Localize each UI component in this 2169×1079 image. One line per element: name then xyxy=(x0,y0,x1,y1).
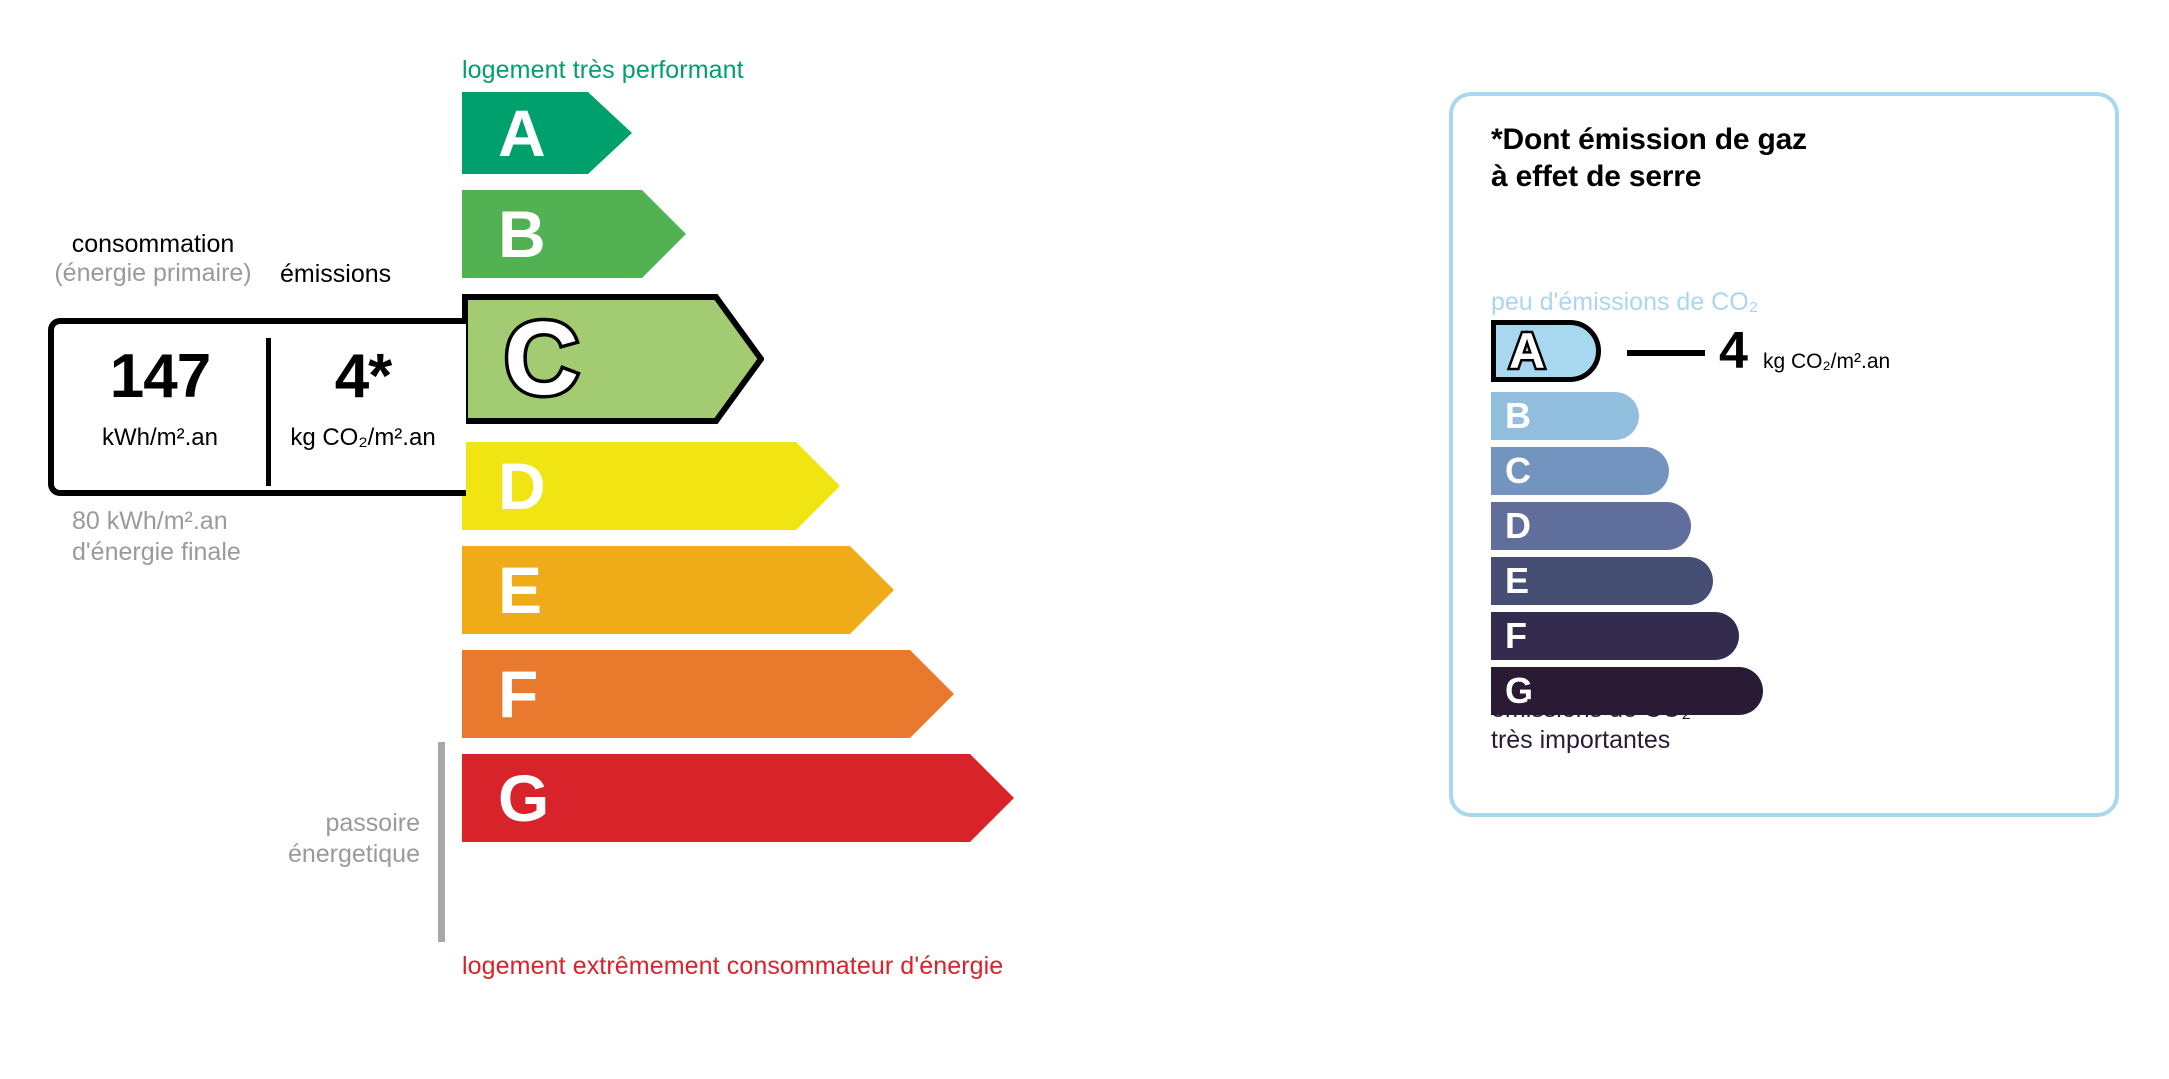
co2-letter-a: A xyxy=(1509,326,1545,376)
passoire-energetique-marker xyxy=(438,742,445,942)
co2-band-c[interactable]: C xyxy=(1491,447,2091,495)
co2-panel-title: *Dont émission de gaz à effet de serre xyxy=(1491,122,1807,195)
consumption-label-line1: consommation xyxy=(72,230,235,258)
energy-band-e[interactable]: E xyxy=(462,546,1262,634)
band-arrow-shape-a xyxy=(462,92,632,174)
energy-performance-diagram: logement très performant A B C D E F xyxy=(0,0,1430,1079)
consumption-unit: kWh/m².an xyxy=(54,424,266,452)
consumption-value: 147 xyxy=(54,346,266,408)
co2-bar-a xyxy=(1491,320,1601,382)
final-energy-line1: 80 kWh/m².an xyxy=(72,506,241,537)
consumption-value-cell: 147 kWh/m².an xyxy=(54,324,266,490)
final-energy-line2: d'énergie finale xyxy=(72,537,241,568)
band-arrow-shape-g xyxy=(462,754,1014,842)
co2-letter-e: E xyxy=(1505,563,1529,599)
band-arrow-shape-d xyxy=(462,442,840,530)
co2-value-unit: kg CO₂/m².an xyxy=(1763,350,1890,374)
energy-band-c-selected[interactable]: C xyxy=(462,294,1262,424)
co2-letter-b: B xyxy=(1505,398,1531,434)
energy-class-bands: A B C D E F G xyxy=(462,92,1262,858)
co2-band-b[interactable]: B xyxy=(1491,392,2091,440)
passoire-line1: passoire xyxy=(240,808,420,839)
co2-value: 4 xyxy=(1719,320,1748,382)
consumption-label-line2: (énergie primaire) xyxy=(38,259,268,288)
passoire-energetique-label: passoire énergetique xyxy=(240,808,420,871)
co2-bottom-line1: émissions de CO₂ xyxy=(1491,694,1691,725)
co2-band-a-selected[interactable]: A 4 kg CO₂/m².an xyxy=(1491,320,2091,382)
band-arrow-shape-c xyxy=(462,294,764,424)
co2-top-caption: peu d'émissions de CO₂ xyxy=(1491,288,1758,317)
co2-bar-f xyxy=(1491,612,1739,660)
co2-band-f[interactable]: F xyxy=(1491,612,2091,660)
energy-band-f[interactable]: F xyxy=(462,650,1262,738)
co2-bottom-caption: émissions de CO₂ très importantes xyxy=(1491,694,1691,757)
emissions-value: 4* xyxy=(267,346,459,408)
energy-band-b[interactable]: B xyxy=(462,190,1262,278)
co2-band-d[interactable]: D xyxy=(1491,502,2091,550)
scale-bottom-caption: logement extrêmement consommateur d'éner… xyxy=(462,952,1003,981)
ges-co2-panel: *Dont émission de gaz à effet de serre p… xyxy=(1449,92,2119,817)
co2-title-line1: *Dont émission de gaz xyxy=(1491,122,1807,159)
emissions-value-cell: 4* kg CO₂/m².an xyxy=(267,324,459,490)
consumption-label: consommation (énergie primaire) xyxy=(38,230,268,288)
final-energy-note: 80 kWh/m².an d'énergie finale xyxy=(72,506,241,569)
co2-bottom-line2: très importantes xyxy=(1491,725,1691,756)
co2-leader-line xyxy=(1627,350,1705,356)
energy-band-a[interactable]: A xyxy=(462,92,1262,174)
band-arrow-shape-e xyxy=(462,546,894,634)
co2-title-line2: à effet de serre xyxy=(1491,159,1807,196)
emissions-unit: kg CO₂/m².an xyxy=(267,424,459,452)
band-arrow-shape-b xyxy=(462,190,686,278)
co2-letter-c: C xyxy=(1505,453,1531,489)
co2-letter-d: D xyxy=(1505,508,1531,544)
values-box: 147 kWh/m².an 4* kg CO₂/m².an xyxy=(48,318,466,496)
co2-band-e[interactable]: E xyxy=(1491,557,2091,605)
co2-class-bars: A 4 kg CO₂/m².an B C D E F G xyxy=(1491,320,2091,722)
co2-letter-f: F xyxy=(1505,618,1527,654)
passoire-line2: énergetique xyxy=(240,839,420,870)
energy-band-g[interactable]: G xyxy=(462,754,1262,842)
energy-band-d[interactable]: D xyxy=(462,442,1262,530)
emissions-label: émissions xyxy=(280,260,391,289)
band-arrow-shape-f xyxy=(462,650,954,738)
scale-top-caption: logement très performant xyxy=(462,56,744,85)
